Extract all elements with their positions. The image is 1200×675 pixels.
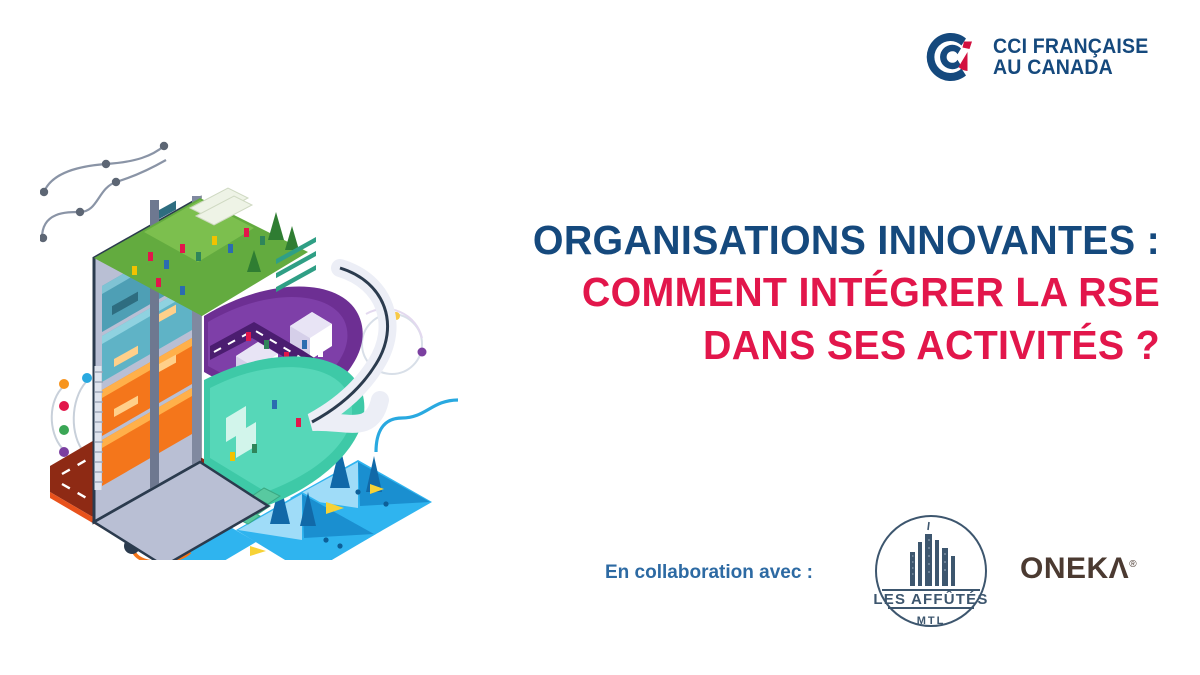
page-title: ORGANISATIONS INNOVANTES : COMMENT INTÉG… xyxy=(390,214,1160,371)
affutes-sub: MTL xyxy=(917,615,946,627)
cci-roundel-icon xyxy=(923,28,981,86)
dot-chain-wire-icon xyxy=(52,382,86,452)
les-affutes-logo: LES AFFÛTÉS MTL xyxy=(868,508,994,634)
cci-logo: CCI FRANÇAISE AU CANADA xyxy=(923,28,1160,86)
title-line-1: ORGANISATIONS INNOVANTES : xyxy=(421,214,1160,266)
cci-line-2: AU CANADA xyxy=(993,57,1148,78)
oneka-trademark: ® xyxy=(1129,559,1137,570)
affutes-name: LES AFFÛTÉS xyxy=(873,590,988,608)
collaboration-section: En collaboration avec : xyxy=(600,500,1160,650)
oneka-logo: ONEKΛ® xyxy=(1020,552,1137,586)
title-line-3: DANS SES ACTIVITÉS ? xyxy=(421,319,1160,371)
title-line-2: COMMENT INTÉGRER LA RSE xyxy=(421,266,1160,318)
circuit-wire-top-icon xyxy=(42,146,166,238)
oneka-wordmark: ONEKΛ xyxy=(1020,552,1129,585)
collaboration-label: En collaboration avec : xyxy=(605,562,813,584)
cci-wordmark: CCI FRANÇAISE AU CANADA xyxy=(993,36,1160,79)
cci-line-1: CCI FRANÇAISE xyxy=(993,36,1148,57)
slide-canvas: CCI FRANÇAISE AU CANADA xyxy=(0,0,1200,675)
blue-wire-icon xyxy=(376,400,458,452)
